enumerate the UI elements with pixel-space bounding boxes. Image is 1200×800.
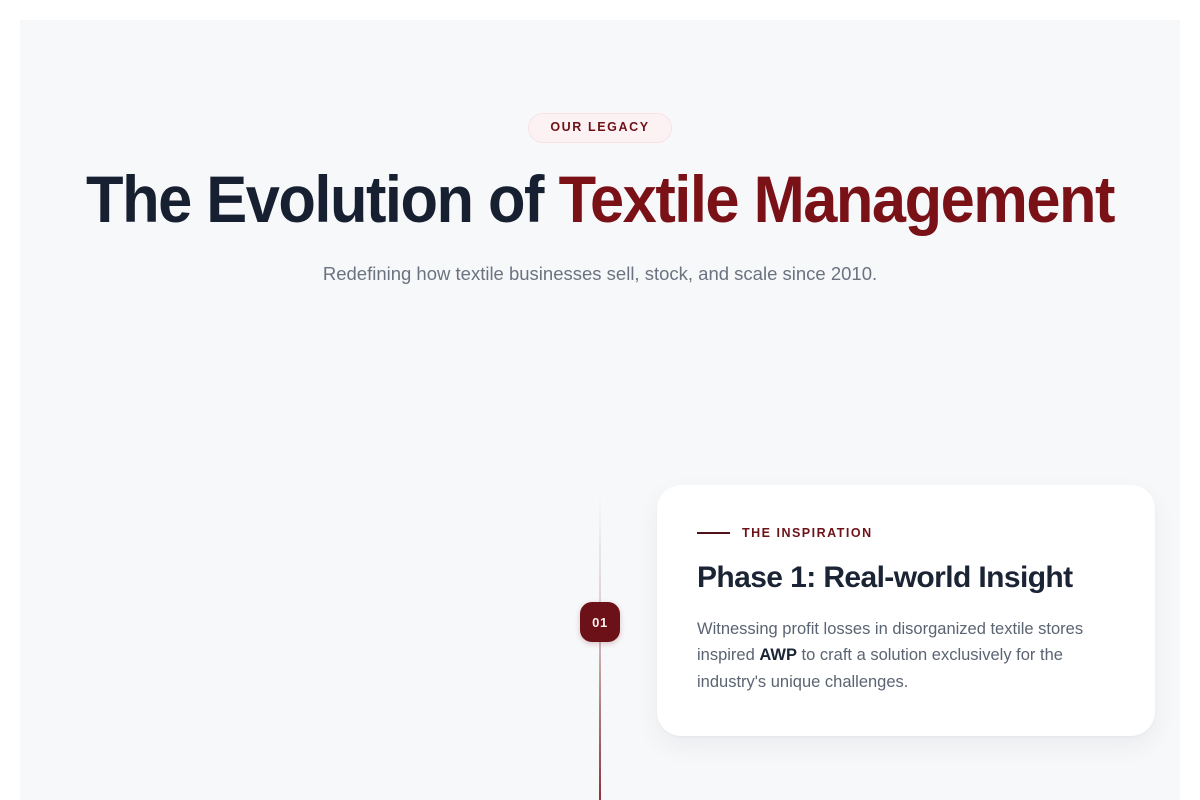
page-title-accent: Textile Management <box>559 162 1114 236</box>
page-title: The Evolution of Textile Management <box>61 166 1140 233</box>
card-kicker-label: THE INSPIRATION <box>742 527 873 540</box>
timeline-rail <box>599 495 601 800</box>
page-canvas: OUR LEGACY The Evolution of Textile Mana… <box>20 20 1180 800</box>
card-title: Phase 1: Real-world Insight <box>697 560 1115 596</box>
page-subtitle: Redefining how textile businesses sell, … <box>20 260 1180 288</box>
hero-section: OUR LEGACY The Evolution of Textile Mana… <box>20 20 1180 288</box>
timeline-node-marker: 01 <box>580 602 620 642</box>
card-body-emphasis: AWP <box>759 646 797 664</box>
timeline-section: 01 THE INSPIRATION Phase 1: Real-world I… <box>20 475 1180 800</box>
kicker-rule-icon <box>697 532 730 534</box>
timeline-phase-card[interactable]: THE INSPIRATION Phase 1: Real-world Insi… <box>657 485 1155 736</box>
card-kicker: THE INSPIRATION <box>697 527 1115 540</box>
eyebrow-badge: OUR LEGACY <box>528 113 671 143</box>
page-title-lead: The Evolution of <box>86 162 559 236</box>
card-body: Witnessing profit losses in disorganized… <box>697 616 1115 696</box>
